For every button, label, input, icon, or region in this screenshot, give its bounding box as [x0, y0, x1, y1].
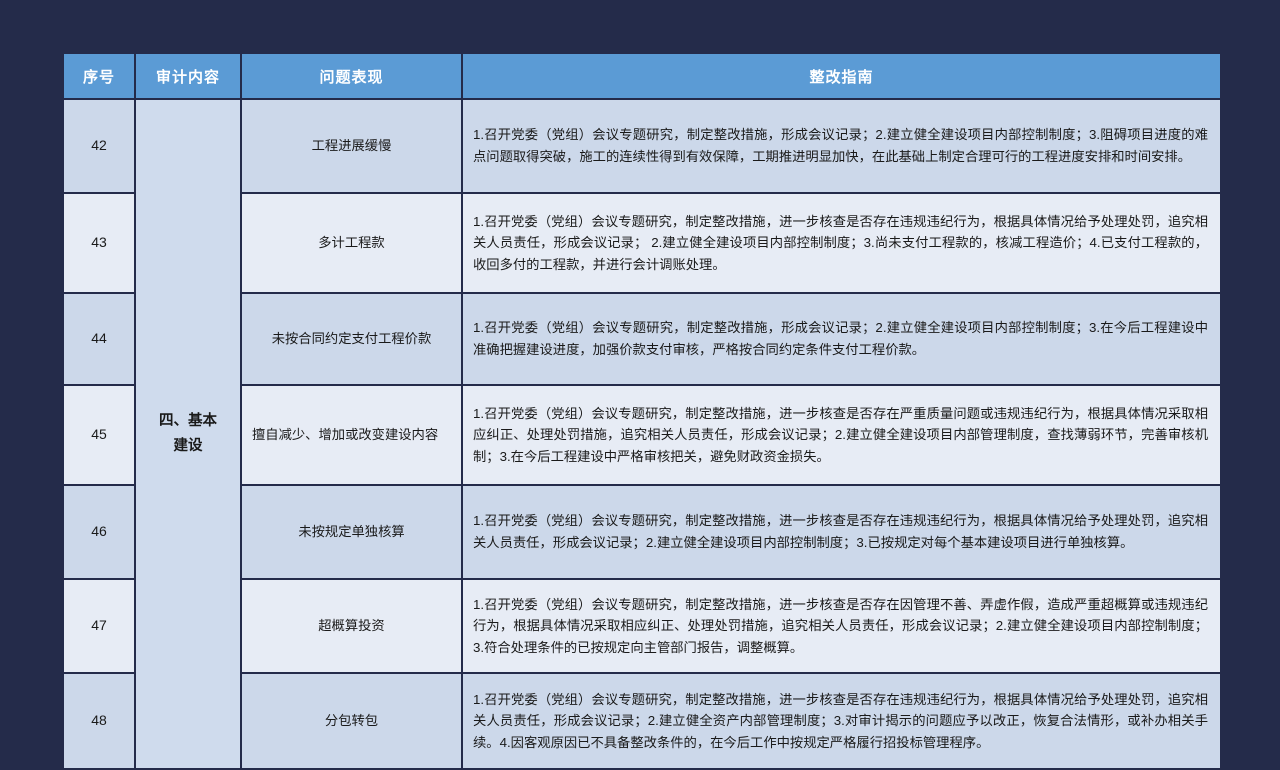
cell-remediation-guide: 1.召开党委（党组）会议专题研究，制定整改措施，进一步核查是否存在违规违纪行为，… [463, 194, 1220, 292]
cell-issue-description: 超概算投资 [242, 580, 461, 672]
cell-issue-description: 未按合同约定支付工程价款 [242, 294, 461, 384]
table-body: 42 四、基本 建设 工程进展缓慢 1.召开党委（党组）会议专题研究，制定整改措… [64, 100, 1220, 768]
cell-sequence-number: 42 [64, 100, 134, 192]
cell-remediation-guide: 1.召开党委（党组）会议专题研究，制定整改措施，进一步核查是否存在违规违纪行为，… [463, 674, 1220, 768]
slide-canvas: 序号 审计内容 问题表现 整改指南 42 四、基本 建设 工程进展缓慢 1.召开… [0, 0, 1280, 720]
table-header: 序号 审计内容 问题表现 整改指南 [64, 54, 1220, 98]
cell-audit-category-merged: 四、基本 建设 [136, 100, 240, 768]
cell-sequence-number: 47 [64, 580, 134, 672]
cell-issue-description: 分包转包 [242, 674, 461, 768]
audit-table-container: 序号 审计内容 问题表现 整改指南 42 四、基本 建设 工程进展缓慢 1.召开… [62, 52, 1220, 672]
cell-remediation-guide: 1.召开党委（党组）会议专题研究，制定整改措施，进一步核查是否存在因管理不善、弄… [463, 580, 1220, 672]
audit-category-line-2: 建设 [146, 434, 230, 459]
audit-category-line-1: 四、基本 [146, 409, 230, 434]
cell-remediation-guide: 1.召开党委（党组）会议专题研究，制定整改措施，形成会议记录；2.建立健全建设项… [463, 100, 1220, 192]
cell-issue-description: 擅自减少、增加或改变建设内容 [242, 386, 461, 484]
column-header-issue-description: 问题表现 [242, 54, 461, 98]
cell-sequence-number: 43 [64, 194, 134, 292]
cell-issue-description: 工程进展缓慢 [242, 100, 461, 192]
column-header-remediation-guide: 整改指南 [463, 54, 1220, 98]
cell-sequence-number: 44 [64, 294, 134, 384]
cell-remediation-guide: 1.召开党委（党组）会议专题研究，制定整改措施，形成会议记录；2.建立健全建设项… [463, 294, 1220, 384]
table-row: 42 四、基本 建设 工程进展缓慢 1.召开党委（党组）会议专题研究，制定整改措… [64, 100, 1220, 192]
cell-sequence-number: 48 [64, 674, 134, 768]
cell-issue-description: 多计工程款 [242, 194, 461, 292]
cell-issue-description: 未按规定单独核算 [242, 486, 461, 578]
audit-remediation-table: 序号 审计内容 问题表现 整改指南 42 四、基本 建设 工程进展缓慢 1.召开… [62, 52, 1222, 770]
table-header-row: 序号 审计内容 问题表现 整改指南 [64, 54, 1220, 98]
column-header-sequence: 序号 [64, 54, 134, 98]
cell-remediation-guide: 1.召开党委（党组）会议专题研究，制定整改措施，进一步核查是否存在严重质量问题或… [463, 386, 1220, 484]
cell-sequence-number: 46 [64, 486, 134, 578]
cell-sequence-number: 45 [64, 386, 134, 484]
cell-remediation-guide: 1.召开党委（党组）会议专题研究，制定整改措施，进一步核查是否存在违规违纪行为，… [463, 486, 1220, 578]
column-header-audit-content: 审计内容 [136, 54, 240, 98]
